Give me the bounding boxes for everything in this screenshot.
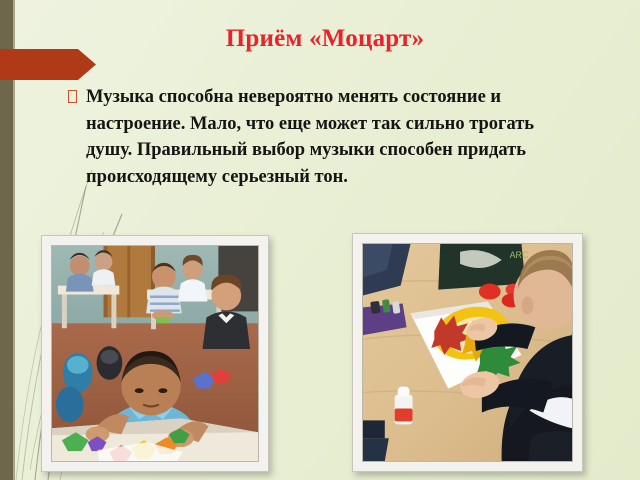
page-title: Приём «Моцарт» [100, 24, 550, 54]
classroom-photo-artwork [52, 246, 258, 461]
classroom-children-craft-photo[interactable] [41, 235, 269, 472]
svg-text:ARC: ARC [510, 250, 529, 260]
bullet-item-text: Музыка способна невероятно менять состоя… [86, 84, 573, 190]
photo-inner-left [51, 245, 259, 462]
child-gluing-leaves-photo[interactable]: ARC [352, 233, 583, 472]
bullet-square-icon [68, 90, 77, 103]
slide-canvas: Приём «Моцарт» Музыка способна невероятн… [0, 0, 640, 480]
arrow-banner-decoration [0, 49, 96, 80]
bullet-list: Музыка способна невероятно менять состоя… [68, 84, 573, 190]
leaf-craft-photo-artwork: ARC [363, 244, 572, 461]
photo-inner-right: ARC [362, 243, 573, 462]
